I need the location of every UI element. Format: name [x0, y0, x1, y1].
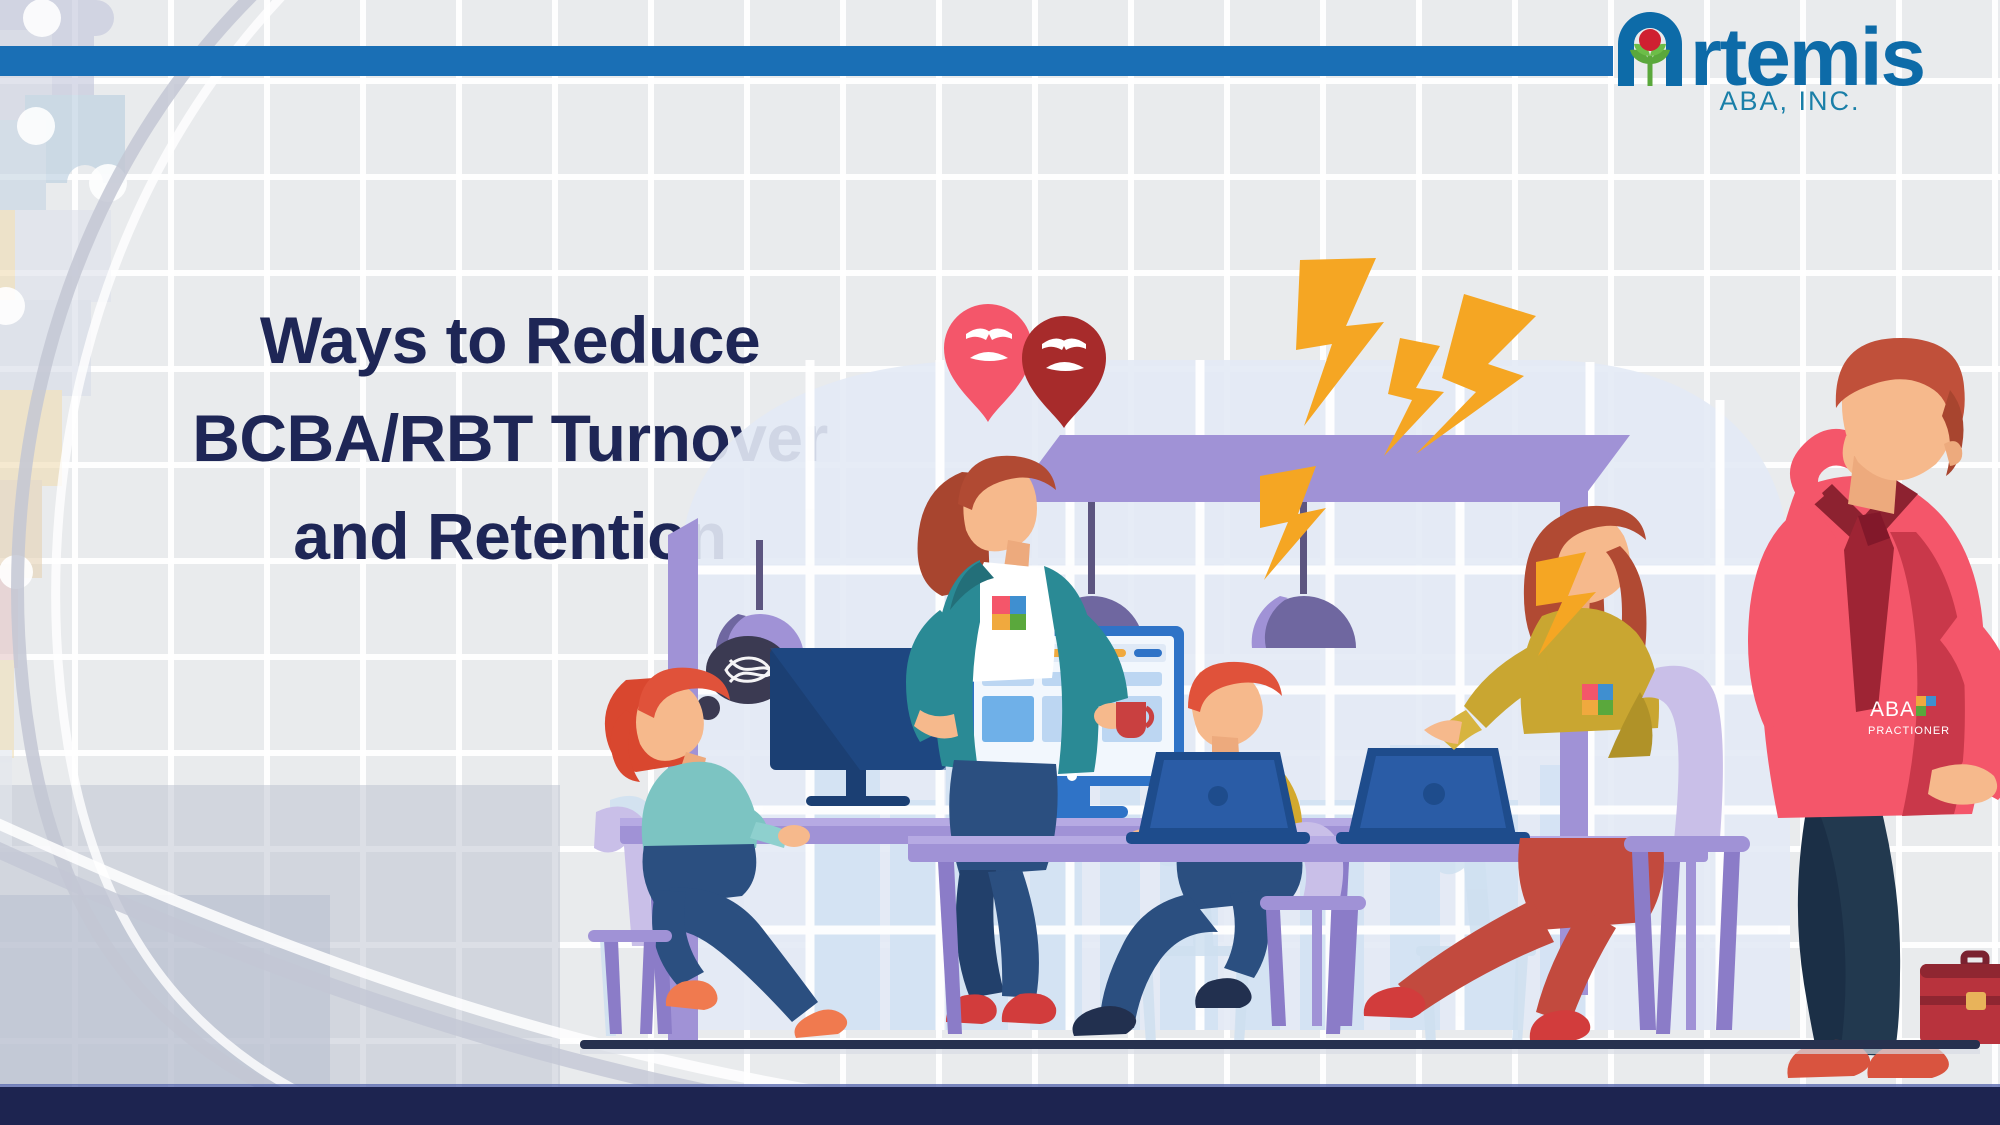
red-briefcase-icon — [1920, 954, 2000, 1044]
badge-line-1: ABA — [1870, 698, 1915, 721]
artemis-logo-icon: rtemis — [1610, 6, 1970, 88]
laptop — [1336, 748, 1530, 844]
brand-name-text: Artemis — [1970, 6, 1971, 7]
badge-line-2: PRACTIONER — [1868, 725, 1950, 737]
aba-badge-icon — [1582, 684, 1613, 715]
aba-badge-icon — [992, 596, 1026, 630]
office-illustration: ABA PRACTIONER — [560, 240, 2000, 1085]
brand-wordmark: rtemis Artemis — [1610, 6, 1970, 84]
laptop — [1126, 752, 1310, 844]
brand-logo[interactable]: rtemis Artemis ABA, INC. — [1610, 6, 1970, 124]
office-scene-svg: ABA PRACTIONER — [560, 240, 2000, 1085]
banner-root: rtemis Artemis ABA, INC. Ways to Reduce … — [0, 0, 2000, 1125]
top-accent-bar — [0, 46, 1613, 76]
floor-line — [580, 1040, 1980, 1049]
bottom-bar — [0, 1087, 2000, 1125]
svg-text:rtemis: rtemis — [1690, 12, 1924, 88]
aba-badge-icon — [1916, 696, 1936, 716]
brand-subtitle: ABA, INC. — [1610, 86, 1970, 117]
